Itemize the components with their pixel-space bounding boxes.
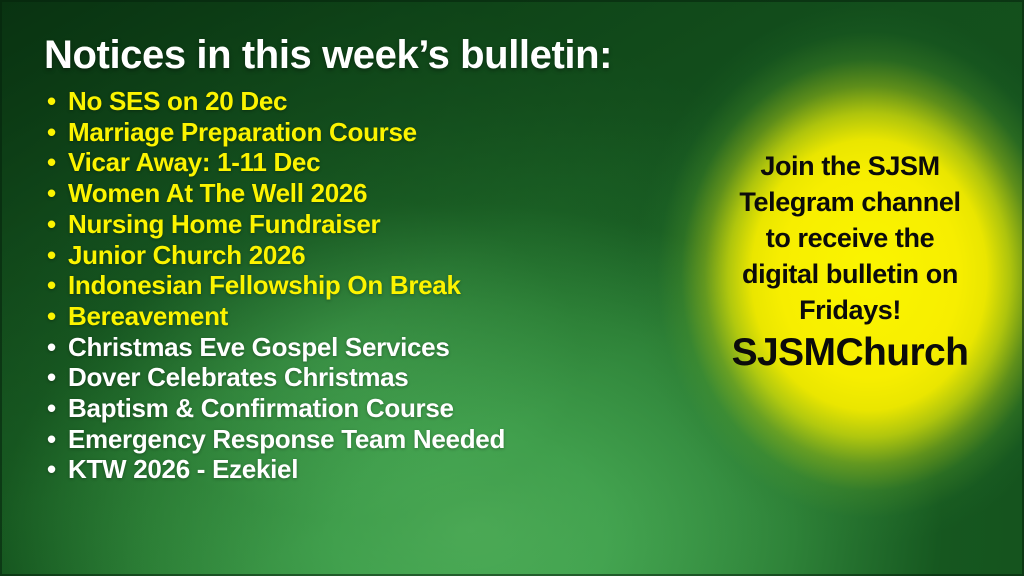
bullet-icon: •: [47, 362, 56, 393]
notice-item-label: Bereavement: [68, 301, 228, 331]
promo-line: digital bulletin on: [690, 256, 1010, 292]
bullet-icon: •: [47, 301, 56, 332]
notice-item-label: Baptism & Confirmation Course: [68, 393, 454, 423]
notice-item-label: Indonesian Fellowship On Break: [68, 270, 461, 300]
bullet-icon: •: [47, 117, 56, 148]
notice-item-label: Vicar Away: 1-11 Dec: [68, 147, 320, 177]
notices-slide: Notices in this week’s bulletin: •No SES…: [0, 0, 1024, 576]
promo-line: Telegram channel: [690, 184, 1010, 220]
bullet-icon: •: [47, 424, 56, 455]
notice-item: •Baptism & Confirmation Course: [44, 393, 664, 424]
bullet-icon: •: [47, 240, 56, 271]
notice-item: •Bereavement: [44, 301, 664, 332]
bullet-icon: •: [47, 393, 56, 424]
notices-list: •No SES on 20 Dec•Marriage Preparation C…: [44, 86, 664, 485]
bullet-icon: •: [47, 86, 56, 117]
telegram-promo-panel: Join the SJSMTelegram channelto receive …: [690, 148, 1010, 376]
notice-item: •Marriage Preparation Course: [44, 117, 664, 148]
notice-item: •Christmas Eve Gospel Services: [44, 332, 664, 363]
bullet-icon: •: [47, 178, 56, 209]
bullet-icon: •: [47, 270, 56, 301]
bullet-icon: •: [47, 209, 56, 240]
notice-item: •Junior Church 2026: [44, 240, 664, 271]
notice-item: •Dover Celebrates Christmas: [44, 362, 664, 393]
notice-item-label: Nursing Home Fundraiser: [68, 209, 380, 239]
notice-item-label: Emergency Response Team Needed: [68, 424, 505, 454]
promo-line: Join the SJSM: [690, 148, 1010, 184]
notice-item: •Nursing Home Fundraiser: [44, 209, 664, 240]
telegram-handle: SJSMChurch: [690, 330, 1010, 376]
notice-item: •Emergency Response Team Needed: [44, 424, 664, 455]
notice-item: •KTW 2026 - Ezekiel: [44, 454, 664, 485]
notice-item-label: Christmas Eve Gospel Services: [68, 332, 450, 362]
notice-item-label: KTW 2026 - Ezekiel: [68, 454, 298, 484]
notice-item-label: Junior Church 2026: [68, 240, 305, 270]
notice-item: •No SES on 20 Dec: [44, 86, 664, 117]
notice-item-label: Dover Celebrates Christmas: [68, 362, 408, 392]
notice-item-label: No SES on 20 Dec: [68, 86, 287, 116]
bullet-icon: •: [47, 147, 56, 178]
bullet-icon: •: [47, 332, 56, 363]
notice-item: •Women At The Well 2026: [44, 178, 664, 209]
notice-item: •Vicar Away: 1-11 Dec: [44, 147, 664, 178]
page-title: Notices in this week’s bulletin:: [44, 34, 664, 76]
notice-item: •Indonesian Fellowship On Break: [44, 270, 664, 301]
promo-text-block: Join the SJSMTelegram channelto receive …: [690, 148, 1010, 328]
notice-item-label: Women At The Well 2026: [68, 178, 367, 208]
bullet-icon: •: [47, 454, 56, 485]
notice-item-label: Marriage Preparation Course: [68, 117, 417, 147]
promo-line: to receive the: [690, 220, 1010, 256]
promo-line: Fridays!: [690, 292, 1010, 328]
notices-column: Notices in this week’s bulletin: •No SES…: [44, 34, 664, 485]
